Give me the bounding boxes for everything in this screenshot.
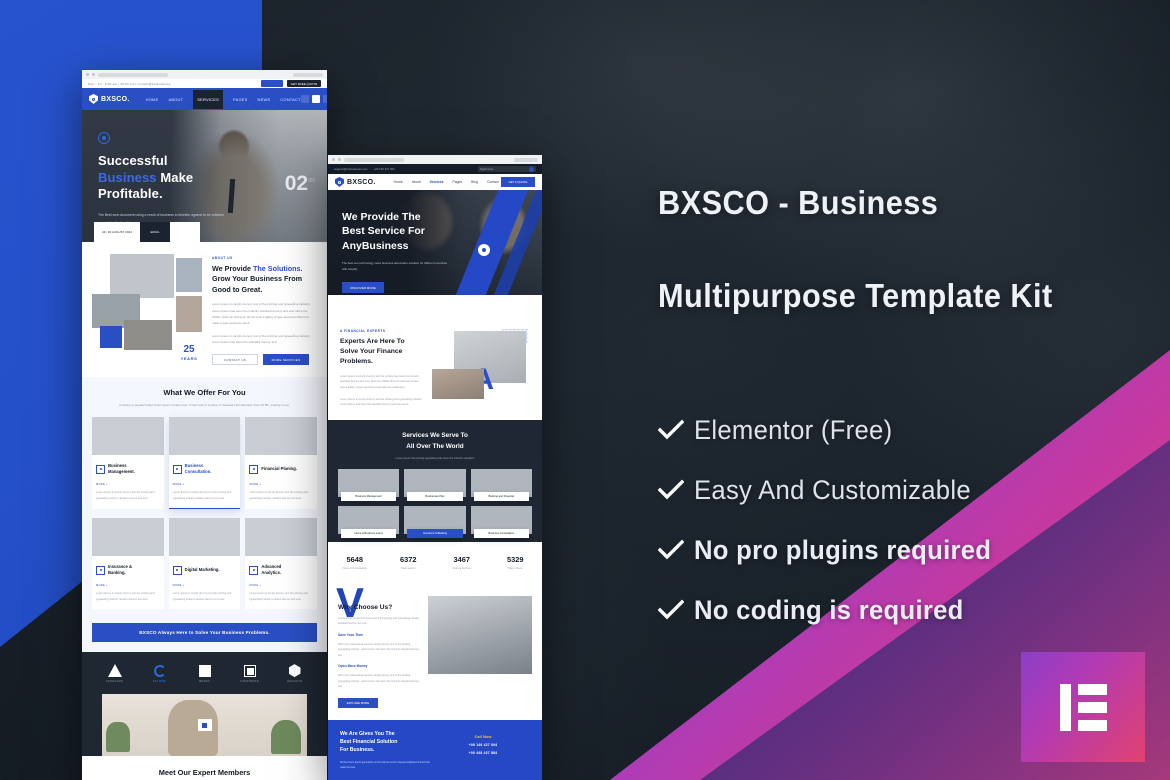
check-icon <box>658 419 694 441</box>
service-card-more[interactable]: MORE + <box>96 584 160 587</box>
about-title-b: The Solutions. <box>253 264 303 273</box>
nav-item-about[interactable]: ABOUT <box>168 97 183 102</box>
nav-links-b: Home About Services Pages Blog Contact <box>394 180 499 184</box>
stat-item: 6372 Total Lawyers <box>382 555 436 570</box>
services-title-line2: All Over The World <box>406 443 463 450</box>
browser-dot <box>86 73 89 76</box>
service-card-thumb <box>92 417 164 455</box>
stat-label: Winning Services <box>435 567 489 570</box>
brand-b[interactable]: BXSCO. <box>335 177 376 187</box>
nav-social-icons-a <box>301 95 327 103</box>
service-card[interactable]: Digital Marketing. MORE + Lorem Ipsum is… <box>169 518 241 609</box>
about-paragraph: Lorem Ipsum is simply dummy text of the … <box>212 301 317 326</box>
contact-us-button[interactable]: CONTACT US <box>212 354 258 365</box>
finance-title-line2: Best Financial Solution <box>340 739 397 745</box>
service-card-more[interactable]: MORE + <box>249 584 313 587</box>
nav-item-contact[interactable]: Contact <box>487 180 499 184</box>
square-icon <box>190 664 220 677</box>
stat-number: 3467 <box>435 555 489 564</box>
brand-name-a: BXSCO. <box>101 96 130 103</box>
website-mockup-secondary: support@bxsbusiness.com +00 146 427 004 … <box>328 155 542 780</box>
feature-label: No pro plugins required <box>694 535 991 566</box>
service-card-title: Business Management. <box>108 463 144 475</box>
why-point-2-title: Open More Money <box>338 664 420 668</box>
offer-title: What We Offer For You <box>92 388 317 397</box>
offer-subtitle: Contrary to popular belief, lorem ipsum … <box>92 402 317 408</box>
brand-name: BRAND <box>190 680 220 683</box>
service-card-thumb <box>169 417 241 455</box>
collage-badge-icon <box>100 326 122 348</box>
browser-dot <box>338 158 341 161</box>
hero-title-line1: We Provide The <box>342 211 421 223</box>
why-text: Why Choose Us? Lorem Ipsum is simply dum… <box>338 590 420 708</box>
hero-date-cell: 24 / 30 AUGUST 2024 <box>94 222 140 242</box>
nav-links-a: HOME ABOUT SERVICES PAGES NEWS CONTACT <box>146 90 301 109</box>
about-collage: 25 YEARS <box>92 252 204 365</box>
check-icon <box>658 599 694 621</box>
brand-logo-item: BRAND <box>190 664 220 683</box>
brand-a[interactable]: BXSCO. <box>89 94 130 104</box>
call-now-label: Call Now <box>436 734 530 739</box>
hero-content-b: We Provide The Best Service For AnyBusin… <box>342 210 452 293</box>
browser-topbar-a <box>82 70 327 79</box>
get-quote-button[interactable]: GET A QUOTE <box>501 177 535 187</box>
decor-plant <box>106 722 130 752</box>
why-point-1-body: When our professional services simply du… <box>338 642 420 659</box>
hero-title-line1: Successful <box>98 153 168 168</box>
finance-cta-contact: Call Now +00 146 427 004 +00 448 427 884 <box>436 730 530 770</box>
discover-more-button[interactable]: DISCOVER MORE <box>342 282 384 293</box>
browser-dot <box>332 158 335 161</box>
triangle-icon <box>100 664 130 677</box>
service-tile-label: Business Consultation <box>474 529 529 538</box>
stat-label: Happy Clients <box>489 567 543 570</box>
nav-item-news[interactable]: NEWS <box>258 97 271 102</box>
experts-title: Experts Are Here To Solve Your Finance P… <box>340 337 424 368</box>
phone-number-2[interactable]: +00 448 427 884 <box>436 751 530 755</box>
service-card-title: Business Consultation. <box>185 463 221 475</box>
service-card-text: Lorem Ipsum is simply dummy text the pri… <box>249 591 313 602</box>
experts-text: A FINANCIAL EXPERTS Experts Are Here To … <box>340 329 424 408</box>
about-section-a: 25 YEARS ABOUT US We Provide The Solutio… <box>82 242 327 377</box>
service-tile[interactable]: Insurance & Banking <box>404 506 465 538</box>
utility-bar-b: support@bxsbusiness.com +00 146 427 004 … <box>328 164 542 174</box>
search-placeholder: Search here... <box>480 168 495 171</box>
finance-cta-section: We Are Gives You The Best Financial Solu… <box>328 720 542 780</box>
explore-more-button[interactable]: EXPLORE MORE <box>338 698 378 708</box>
hero-content-a: Successful Business Make Profitable. The… <box>98 132 228 227</box>
cta-wrapper-a: BXSCO Always Here to Solve Your Business… <box>82 623 327 652</box>
more-services-button[interactable]: MORE SERVICES <box>263 354 309 365</box>
nav-item-services[interactable]: Services <box>430 180 444 184</box>
slide-number-value: 02 <box>285 172 308 195</box>
hero-title-line2: Best Service For <box>342 225 425 237</box>
service-tile[interactable]: Business Management <box>338 469 399 501</box>
stat-label: Total Lawyers <box>382 567 436 570</box>
service-card-thumb <box>92 518 164 556</box>
why-point-1-title: Save Your Time <box>338 633 420 637</box>
about-buttons: CONTACT US MORE SERVICES <box>212 354 317 365</box>
feature-label: No coding is required <box>694 595 964 626</box>
service-tile[interactable]: Businesses Plan <box>404 469 465 501</box>
cta-banner-a[interactable]: BXSCO Always Here to Solve Your Business… <box>92 623 317 642</box>
about-title: We Provide The Solutions. Grow Your Busi… <box>212 264 317 295</box>
service-tile-label: Home & Business Loans <box>341 529 396 538</box>
about-title-c: Grow Your Business From Good to Great. <box>212 274 302 293</box>
finance-icon <box>249 465 258 474</box>
hexagon-icon <box>280 664 310 677</box>
browser-action-pill <box>293 73 323 77</box>
services-grid: Business Management Businesses Plan Bank… <box>338 469 532 538</box>
target-icon <box>98 132 110 144</box>
brand-logo-item: VANGUARD <box>100 664 130 683</box>
promo-headline: BXSCO - Business Multipurpose Template K… <box>658 186 1158 313</box>
elementor-bar-bottom <box>1078 720 1107 731</box>
feature-item: Elementor (Free) <box>658 400 1138 460</box>
team-title: Meet Our Expert Members <box>92 768 317 777</box>
about-title-a: We Provide <box>212 264 253 273</box>
stat-item: 5648 Hours of Consultations <box>328 555 382 570</box>
stat-item: 3467 Winning Services <box>435 555 489 570</box>
hero-section-b: We Provide The Best Service For AnyBusin… <box>328 190 542 295</box>
stat-label: Hours of Consultations <box>328 567 382 570</box>
years-number: 25 <box>183 344 194 355</box>
stat-number: 5329 <box>489 555 543 564</box>
collage-image <box>110 254 174 298</box>
service-card-more[interactable]: MORE + <box>173 483 237 486</box>
phone-number-1[interactable]: +00 146 427 004 <box>436 743 530 747</box>
hero-section-a: Successful Business Make Profitable. The… <box>82 110 327 242</box>
finance-title-line1: We Are Gives You The <box>340 731 395 737</box>
nav-item-contact[interactable]: CONTACT <box>280 97 300 102</box>
hero-title-highlight: Business <box>98 170 157 185</box>
utility-bar-a: Mon - Fri : 9:00 am - 06:00 pm | contact… <box>82 79 327 88</box>
services-title-line1: Services We Serve To <box>402 432 468 439</box>
experts-paragraph: Lorem Ipsum is simply dummy text the pri… <box>340 374 424 391</box>
brands-section-a: VANGUARD ECLIPSE BRAND CORPORATE HEXAGON <box>82 652 327 756</box>
hero-slide-number: 02/05 <box>285 172 315 196</box>
shield-icon <box>96 566 105 575</box>
collage-image <box>176 296 202 332</box>
handshake-icon <box>173 465 182 474</box>
service-card[interactable]: Financial Planing. MORE + Lorem Ipsum is… <box>245 417 317 509</box>
elementor-bar-middle <box>1078 702 1107 713</box>
utility-quote-button-a[interactable]: GET FREE QUOTE <box>287 80 321 87</box>
service-card-title: Insurance & Banking. <box>108 564 144 576</box>
utility-info-a: Mon - Fri : 9:00 am - 06:00 pm | contact… <box>88 82 171 86</box>
stat-number: 6372 <box>382 555 436 564</box>
navbar-a: BXSCO. HOME ABOUT SERVICES PAGES NEWS CO… <box>82 88 327 110</box>
title-line-2: Multipurpose Template Kit <box>658 279 1123 314</box>
browser-url-pill <box>344 158 404 162</box>
analytics-icon <box>249 566 258 575</box>
offer-cards-row-2: Insurance & Banking. MORE + Lorem Ipsum … <box>92 518 317 609</box>
nav-item-blog[interactable]: Blog <box>471 180 478 184</box>
service-tile-label: Businesses Plan <box>407 492 462 501</box>
brand-logo-item: CORPORATE <box>235 664 265 683</box>
search-icon[interactable] <box>529 167 534 172</box>
cart-icon[interactable] <box>323 95 327 103</box>
brand-logo-item: ECLIPSE <box>145 664 175 683</box>
service-card-body: Financial Planing. MORE + Lorem Ipsum is… <box>245 455 317 508</box>
utility-email-b: support@bxsbusiness.com <box>334 167 368 171</box>
slide-total-value: /05 <box>308 178 315 184</box>
feature-item: No coding is required <box>658 580 1138 640</box>
browser-action-pill <box>514 158 538 162</box>
search-input[interactable]: Search here... <box>478 166 536 172</box>
nav-item-home[interactable]: Home <box>394 180 403 184</box>
navbar-b: BXSCO. Home About Services Pages Blog Co… <box>328 174 542 190</box>
play-button-icon[interactable] <box>478 244 490 256</box>
offer-section-a: What We Offer For You Contrary to popula… <box>82 377 327 623</box>
video-section-a[interactable] <box>102 694 307 756</box>
why-point-2-body: When our professional services simply du… <box>338 673 420 690</box>
why-paragraph: Lorem Ipsum is simply dummy text of the … <box>338 616 420 627</box>
why-choose-us-section: V Why Choose Us? Lorem Ipsum is simply d… <box>328 584 542 720</box>
experts-secondary-photo <box>432 369 484 399</box>
service-tile-label: Banking and Financial <box>474 492 529 501</box>
service-tile-label: Business Management <box>341 492 396 501</box>
services-section-b: Services We Serve To All Over The World … <box>328 420 542 584</box>
experts-images: A <box>432 329 530 399</box>
search-icon[interactable] <box>312 95 320 103</box>
nav-item-about[interactable]: About <box>412 180 421 184</box>
megaphone-icon <box>173 566 182 575</box>
experts-eyebrow: A FINANCIAL EXPERTS <box>340 329 424 333</box>
service-tile[interactable]: Home & Business Loans <box>338 506 399 538</box>
feature-label: Easy And Customizable <box>694 475 971 506</box>
shield-icon <box>335 177 344 187</box>
utility-blue-button-a[interactable] <box>261 80 283 87</box>
chart-icon <box>96 465 105 474</box>
service-card-title: Digital Marketing. <box>185 567 221 573</box>
service-card-body: Digital Marketing. MORE + Lorem Ipsum is… <box>169 556 241 609</box>
service-tile-label: Insurance & Banking <box>407 529 462 538</box>
hero-extra-cell[interactable] <box>170 222 200 242</box>
browser-dot <box>92 73 95 76</box>
service-card[interactable]: Advanced Analytics. MORE + Lorem Ipsum i… <box>245 518 317 609</box>
feature-label: Elementor (Free) <box>694 415 892 446</box>
hero-title-b: We Provide The Best Service For AnyBusin… <box>342 210 452 253</box>
years-label: YEARS <box>176 357 202 361</box>
service-card-thumb <box>245 417 317 455</box>
service-card-body: Insurance & Banking. MORE + Lorem Ipsum … <box>92 556 164 609</box>
service-card-thumb <box>245 518 317 556</box>
years-badge: 25 YEARS <box>176 345 202 361</box>
about-paragraph-2: Lorem Ipsum is simply dummy text of the … <box>212 333 317 346</box>
elementor-logo-badge <box>1021 652 1145 762</box>
elementor-icon <box>1060 684 1107 731</box>
browser-topbar-b <box>328 155 542 164</box>
service-card-text: Lorem Ipsum is simply dummy text the pri… <box>173 490 237 501</box>
service-card[interactable]: Insurance & Banking. MORE + Lorem Ipsum … <box>92 518 164 609</box>
finance-cta-title: We Are Gives You The Best Financial Solu… <box>340 730 436 755</box>
nav-item-pages[interactable]: Pages <box>453 180 463 184</box>
nav-item-pages[interactable]: PAGES <box>233 97 248 102</box>
feature-item: No pro plugins required <box>658 520 1138 580</box>
browser-url-pill <box>98 73 168 77</box>
service-card-body: Advanced Analytics. MORE + Lorem Ipsum i… <box>245 556 317 609</box>
collage-image <box>124 320 172 350</box>
team-section-a: Meet Our Expert Members Contrary to popu… <box>82 756 327 780</box>
play-button-icon[interactable] <box>198 719 212 731</box>
elementor-bar-vertical <box>1060 684 1071 731</box>
service-card-text: Lorem Ipsum is simply dummy text the pri… <box>96 490 160 501</box>
brand-name: HEXAGON <box>280 680 310 683</box>
shield-icon <box>89 94 98 104</box>
experts-paragraph-2: Lorem Ipsum is simply dummy text the pri… <box>340 397 424 408</box>
check-icon <box>658 539 694 561</box>
service-card-body: Business Management. MORE + Lorem Ipsum … <box>92 455 164 508</box>
why-photo <box>428 596 532 674</box>
circle-swirl-icon <box>145 664 175 677</box>
page-title: BXSCO - Business Multipurpose Template K… <box>658 186 1123 313</box>
services-title: Services We Serve To All Over The World <box>338 431 532 453</box>
elementor-bar-top <box>1078 684 1107 695</box>
service-card-body: Business Consultation. MORE + Lorem Ipsu… <box>169 455 241 508</box>
hero-email-cell[interactable]: EMAIL <box>140 222 170 242</box>
website-mockup-primary: Mon - Fri : 9:00 am - 06:00 pm | contact… <box>82 70 327 780</box>
service-card-text: Lorem Ipsum is simply dummy text the pri… <box>173 591 237 602</box>
utility-phone-b: +00 146 427 004 <box>374 167 395 171</box>
service-card-thumb <box>169 518 241 556</box>
service-card[interactable]: Business Consultation. MORE + Lorem Ipsu… <box>169 417 241 509</box>
stats-row: 5648 Hours of Consultations 6372 Total L… <box>328 542 542 584</box>
facebook-icon[interactable] <box>301 95 309 103</box>
brand-name-b: BXSCO. <box>347 179 376 186</box>
finance-cta-text: We Are Gives You The Best Financial Solu… <box>340 730 436 770</box>
hero-bottom-row-a: 24 / 30 AUGUST 2024 EMAIL <box>94 222 200 242</box>
hero-title-a: Successful Business Make Profitable. <box>98 153 228 203</box>
brand-row: VANGUARD ECLIPSE BRAND CORPORATE HEXAGON <box>92 664 317 683</box>
hero-title-line3: AnyBusiness <box>342 240 409 252</box>
brand-name: VANGUARD <box>100 680 130 683</box>
about-text-a: ABOUT US We Provide The Solutions. Grow … <box>212 252 317 365</box>
collage-image <box>176 258 202 292</box>
finance-cta-paragraph: All the Lorem Ipsum generators on the in… <box>340 760 436 770</box>
about-eyebrow: ABOUT US <box>212 256 317 260</box>
square-outline-icon <box>235 664 265 677</box>
offer-cards-row-1: Business Management. MORE + Lorem Ipsum … <box>92 417 317 509</box>
service-card-more[interactable]: MORE + <box>96 483 160 486</box>
services-subtitle: Lorem Ipsum the printing typesetting has… <box>338 457 532 460</box>
brand-logo-item: HEXAGON <box>280 664 310 683</box>
why-title: Why Choose Us? <box>338 604 420 611</box>
feature-item: Easy And Customizable <box>658 460 1138 520</box>
title-line-1: BXSCO - Business <box>658 186 1123 221</box>
service-card-text: Lorem Ipsum is simply dummy text the pri… <box>249 490 313 501</box>
service-card-more[interactable]: MORE + <box>249 483 313 486</box>
decor-plant <box>271 720 301 754</box>
nav-item-home[interactable]: HOME <box>146 97 159 102</box>
utility-quote-label-a: GET FREE QUOTE <box>291 82 317 86</box>
stat-item: 5329 Happy Clients <box>489 555 543 570</box>
service-card-title: Financial Planing. <box>261 466 297 472</box>
service-card-text: Lorem Ipsum is simply dummy text the pri… <box>96 591 160 602</box>
service-card-title: Advanced Analytics. <box>261 564 297 576</box>
nav-item-services[interactable]: SERVICES <box>193 90 223 109</box>
cta-banner-text: BXSCO Always Here to Solve Your Business… <box>139 630 269 635</box>
experts-section-b: A FINANCIAL EXPERTS Experts Are Here To … <box>328 295 542 420</box>
check-icon <box>658 479 694 501</box>
hero-title-line2b: Make <box>157 170 194 185</box>
feature-list: Elementor (Free) Easy And Customizable N… <box>658 400 1138 640</box>
service-card-more[interactable]: MORE + <box>173 584 237 587</box>
service-tile[interactable]: Banking and Financial <box>471 469 532 501</box>
hero-title-line3: Profitable. <box>98 186 163 201</box>
hero-paragraph-b: The best seo technology news business au… <box>342 260 452 273</box>
brand-name: ECLIPSE <box>145 680 175 683</box>
brand-name: CORPORATE <box>235 680 265 683</box>
service-tile[interactable]: Business Consultation <box>471 506 532 538</box>
stat-number: 5648 <box>328 555 382 564</box>
finance-title-line3: For Business. <box>340 747 374 753</box>
service-card[interactable]: Business Management. MORE + Lorem Ipsum … <box>92 417 164 509</box>
